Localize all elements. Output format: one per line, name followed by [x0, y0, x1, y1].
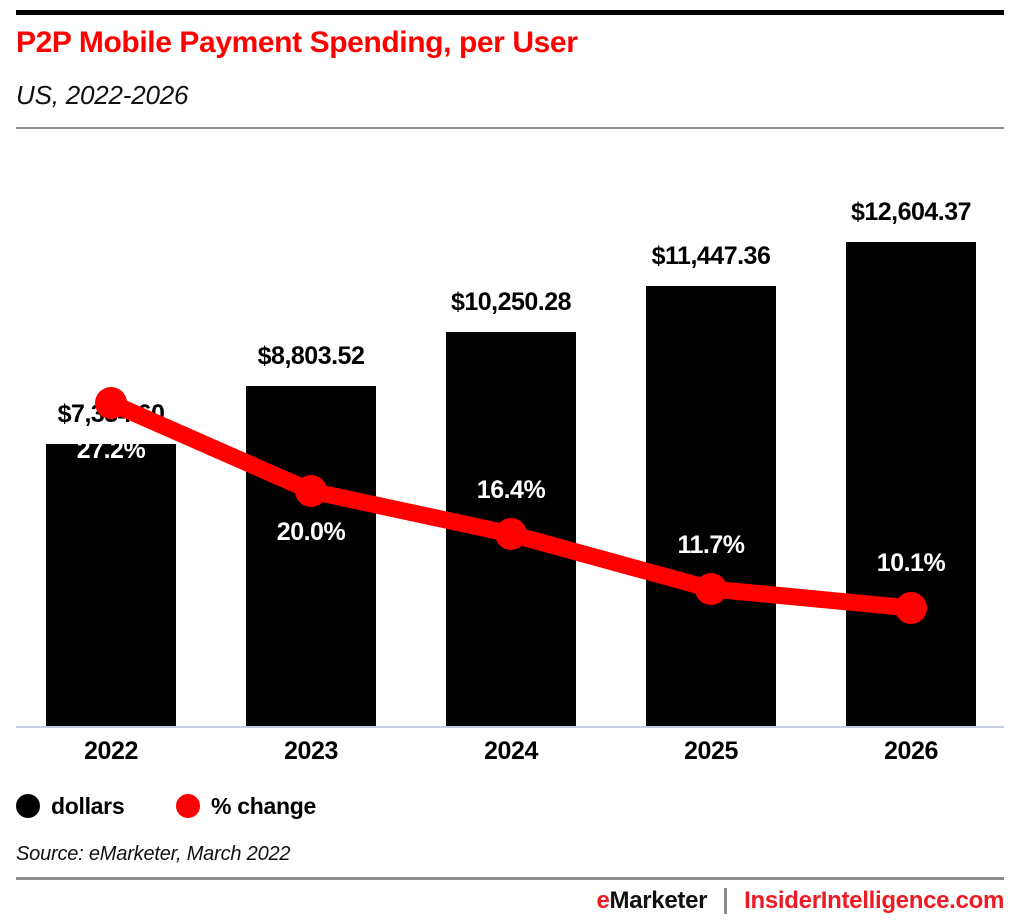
legend-label-percent-change: % change [211, 793, 316, 820]
chart-plot-area: $7,334.60 $8,803.52 $10,250.28 $11,447.3… [0, 0, 1020, 920]
brand-emarketer-name: Marketer [610, 887, 708, 915]
brand-site-link[interactable]: InsiderIntelligence.com [744, 887, 1004, 915]
legend-item-percent-change[interactable]: % change [176, 786, 316, 826]
legend-item-dollars[interactable]: dollars [16, 786, 124, 826]
pct-label-2022: 27.2% [26, 436, 196, 465]
brand-emarketer-e: e [596, 887, 609, 915]
legend-dot-red-icon [176, 794, 200, 818]
brand-separator-icon [724, 888, 727, 914]
bar-2026 [846, 242, 976, 726]
bar-2023 [246, 386, 376, 726]
x-tick-2023: 2023 [231, 737, 391, 766]
pct-label-2024: 16.4% [426, 476, 596, 505]
bar-value-2026: $12,604.37 [816, 198, 1006, 227]
chart-page: P2P Mobile Payment Spending, per User US… [0, 0, 1020, 920]
source-note: Source: eMarketer, March 2022 [16, 843, 290, 866]
x-tick-2022: 2022 [31, 737, 191, 766]
bar-value-2025: $11,447.36 [616, 242, 806, 271]
bar-value-2023: $8,803.52 [221, 342, 401, 371]
x-axis-baseline [16, 726, 1004, 728]
pct-label-2025: 11.7% [626, 531, 796, 560]
legend-dot-black-icon [16, 794, 40, 818]
footer-rule [16, 877, 1004, 880]
bar-2025 [646, 286, 776, 726]
x-tick-2026: 2026 [831, 737, 991, 766]
bar-value-2022: $7,334.60 [21, 400, 201, 429]
bar-2022 [46, 444, 176, 726]
pct-label-2026: 10.1% [826, 549, 996, 578]
bar-value-2024: $10,250.28 [416, 288, 606, 317]
legend-label-dollars: dollars [51, 793, 124, 820]
footer-branding: eMarketer InsiderIntelligence.com [596, 884, 1004, 918]
bar-2024 [446, 332, 576, 726]
x-tick-2025: 2025 [631, 737, 791, 766]
x-tick-2024: 2024 [431, 737, 591, 766]
pct-label-2023: 20.0% [226, 518, 396, 547]
